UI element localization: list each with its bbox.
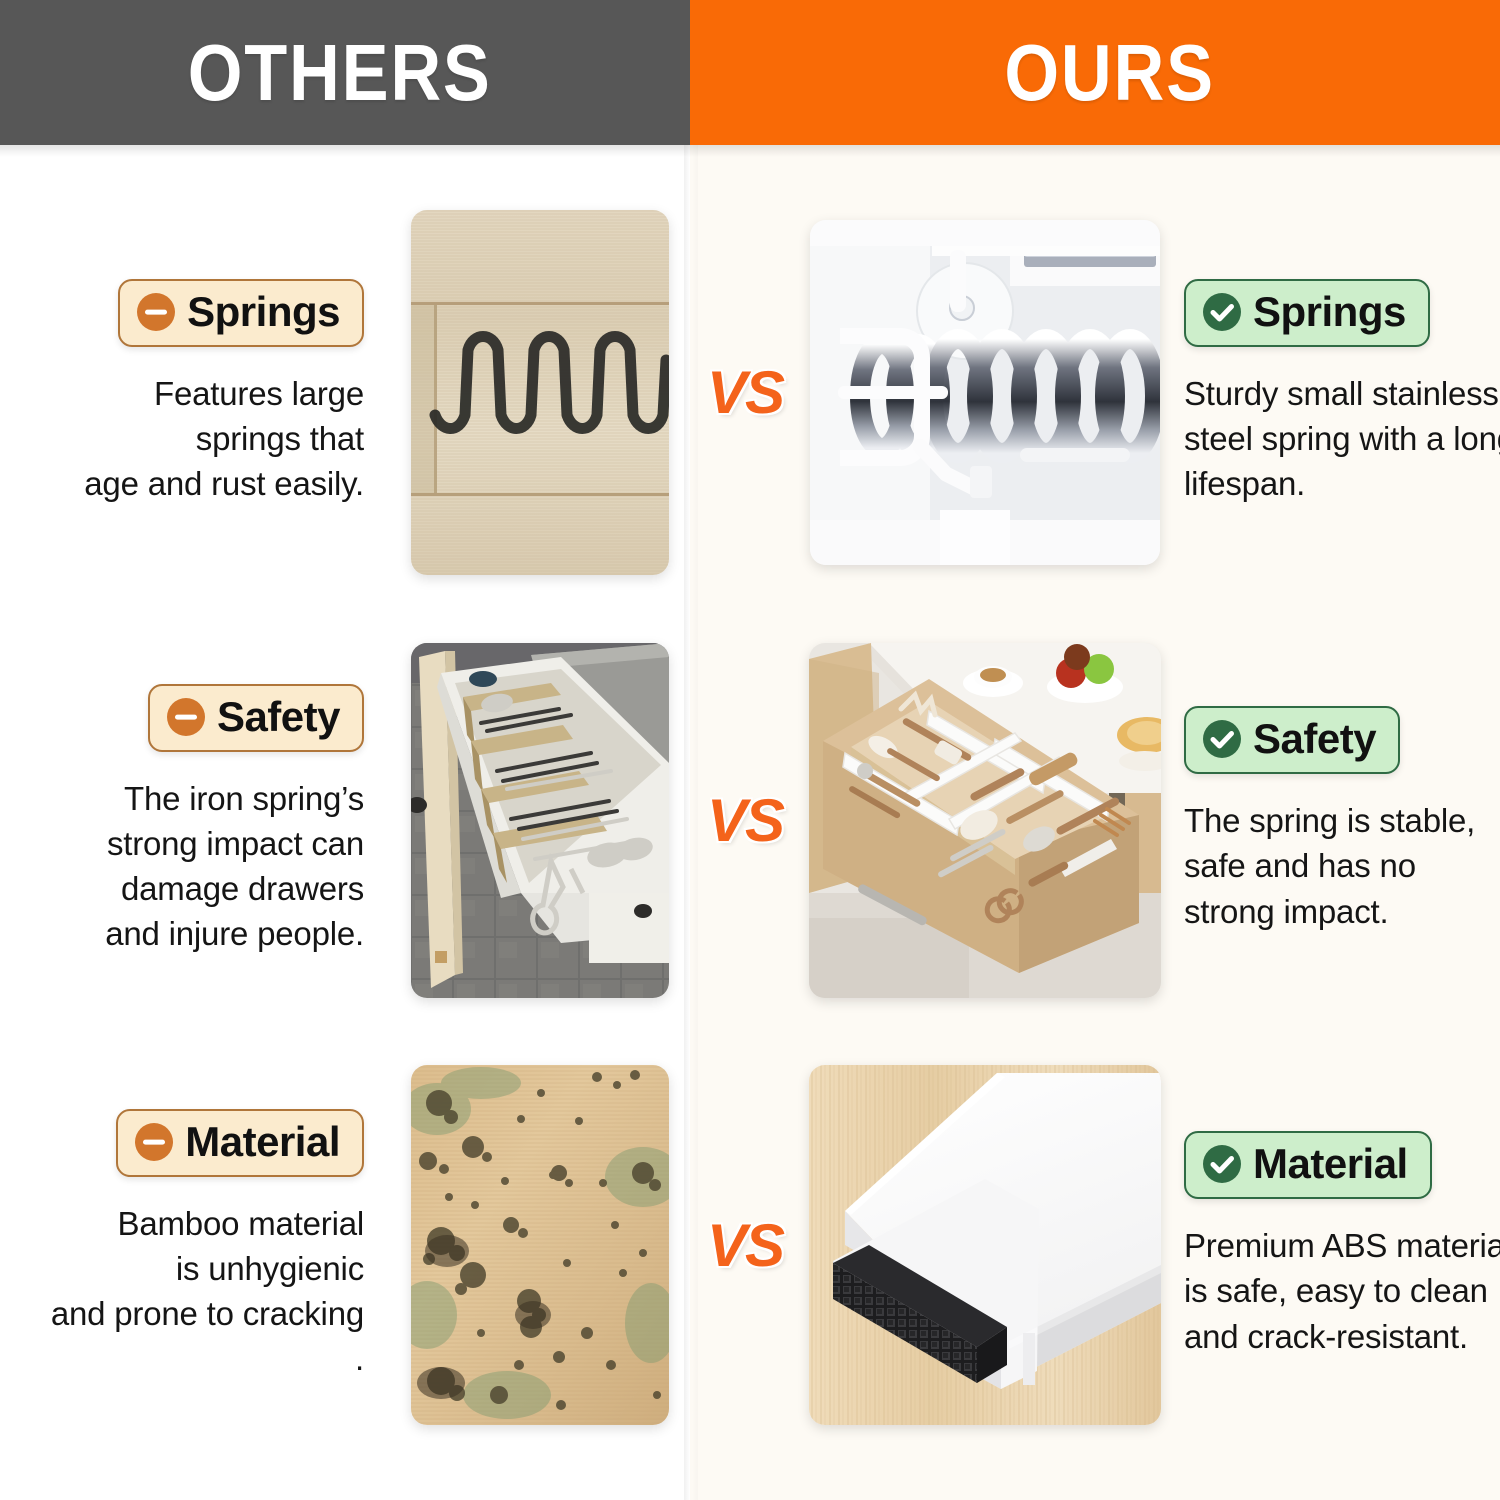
- badge-others-material: Material: [116, 1109, 364, 1177]
- desc-line: Bamboo material: [51, 1201, 364, 1246]
- others-text-material: Material Bamboo material is unhygienic a…: [0, 1109, 390, 1382]
- vs-cell-springs: VS: [690, 358, 800, 427]
- badge-others-safety: Safety: [148, 684, 364, 752]
- ours-description-material: Premium ABS material is safe, easy to cl…: [1184, 1223, 1500, 1359]
- ours-image-cell-material: [800, 1065, 1170, 1425]
- header-ours: OURS: [690, 0, 1500, 145]
- ours-description-springs: Sturdy small stainless steel spring with…: [1184, 371, 1500, 507]
- desc-line: is unhygienic: [51, 1246, 364, 1291]
- vs-label: VS: [707, 786, 783, 855]
- badge-others-springs: Springs: [118, 279, 364, 347]
- badge-label: Material: [185, 1120, 340, 1164]
- others-image-cell-material: [390, 1065, 690, 1425]
- badge-label: Material: [1253, 1142, 1408, 1186]
- desc-line: and prone to cracking: [51, 1291, 364, 1336]
- desc-line: Sturdy small stainless: [1184, 371, 1500, 416]
- desc-line: steel spring with a long: [1184, 416, 1500, 461]
- photo-moldy-bamboo-board: [411, 1065, 669, 1425]
- others-description-springs: Features large springs that age and rust…: [84, 371, 364, 507]
- desc-line: strong impact.: [1184, 889, 1475, 934]
- header-bar: OTHERS OURS: [0, 0, 1500, 145]
- others-description-safety: The iron spring’s strong impact can dama…: [105, 776, 364, 957]
- badge-label: Springs: [187, 290, 340, 334]
- others-description-material: Bamboo material is unhygienic and prone …: [51, 1201, 364, 1382]
- desc-line: The iron spring’s: [105, 776, 364, 821]
- comparison-row-material: Material Bamboo material is unhygienic a…: [0, 1045, 1500, 1445]
- photo-white-mechanism-coil-spring: [810, 220, 1160, 565]
- badge-ours-material: Material: [1184, 1131, 1432, 1199]
- ours-image-cell-safety: [800, 643, 1170, 998]
- desc-line: lifespan.: [1184, 461, 1500, 506]
- vs-cell-safety: VS: [690, 786, 800, 855]
- ours-description-safety: The spring is stable, safe and has no st…: [1184, 798, 1475, 934]
- minus-circle-icon: [136, 292, 176, 332]
- others-image-cell-safety: [390, 643, 690, 998]
- others-image-cell-springs: [390, 210, 690, 575]
- photo-organized-wooden-drawer: [809, 643, 1161, 998]
- desc-line: springs that: [84, 416, 364, 461]
- desc-line: and crack-resistant.: [1184, 1314, 1500, 1359]
- desc-line: and injure people.: [105, 911, 364, 956]
- desc-line: Premium ABS material: [1184, 1223, 1500, 1268]
- desc-line: age and rust easily.: [84, 461, 364, 506]
- badge-ours-springs: Springs: [1184, 279, 1430, 347]
- others-text-safety: Safety The iron spring’s strong impact c…: [0, 684, 390, 957]
- desc-line: damage drawers: [105, 866, 364, 911]
- minus-circle-icon: [166, 697, 206, 737]
- vs-label: VS: [707, 358, 783, 427]
- header-others: OTHERS: [0, 0, 690, 145]
- desc-line: is safe, easy to clean: [1184, 1268, 1500, 1313]
- header-others-title: OTHERS: [188, 33, 492, 113]
- desc-line: Features large: [84, 371, 364, 416]
- vs-cell-material: VS: [690, 1211, 800, 1280]
- desc-line: The spring is stable,: [1184, 798, 1475, 843]
- vs-label: VS: [707, 1211, 783, 1280]
- comparison-infographic: OTHERS OURS Springs Features large sprin…: [0, 0, 1500, 1500]
- ours-text-safety: Safety The spring is stable, safe and ha…: [1170, 706, 1500, 934]
- ours-text-material: Material Premium ABS material is safe, e…: [1170, 1131, 1500, 1359]
- ours-text-springs: Springs Sturdy small stainless steel spr…: [1170, 279, 1500, 507]
- header-ours-title: OURS: [1005, 33, 1215, 113]
- desc-line: safe and has no: [1184, 843, 1475, 888]
- comparison-row-springs: Springs Features large springs that age …: [0, 185, 1500, 600]
- check-circle-icon: [1202, 719, 1242, 759]
- photo-bamboo-wave-spring: [411, 210, 669, 575]
- photo-cluttered-drawer: [411, 643, 669, 998]
- others-text-springs: Springs Features large springs that age …: [0, 279, 390, 507]
- desc-line: strong impact can: [105, 821, 364, 866]
- ours-image-cell-springs: [800, 220, 1170, 565]
- badge-label: Safety: [1253, 717, 1376, 761]
- comparison-row-safety: Safety The iron spring’s strong impact c…: [0, 620, 1500, 1020]
- check-circle-icon: [1202, 292, 1242, 332]
- photo-white-abs-divider: [809, 1065, 1161, 1425]
- check-circle-icon: [1202, 1144, 1242, 1184]
- badge-label: Springs: [1253, 290, 1406, 334]
- minus-circle-icon: [134, 1122, 174, 1162]
- badge-ours-safety: Safety: [1184, 706, 1400, 774]
- desc-line: .: [51, 1336, 364, 1381]
- badge-label: Safety: [217, 695, 340, 739]
